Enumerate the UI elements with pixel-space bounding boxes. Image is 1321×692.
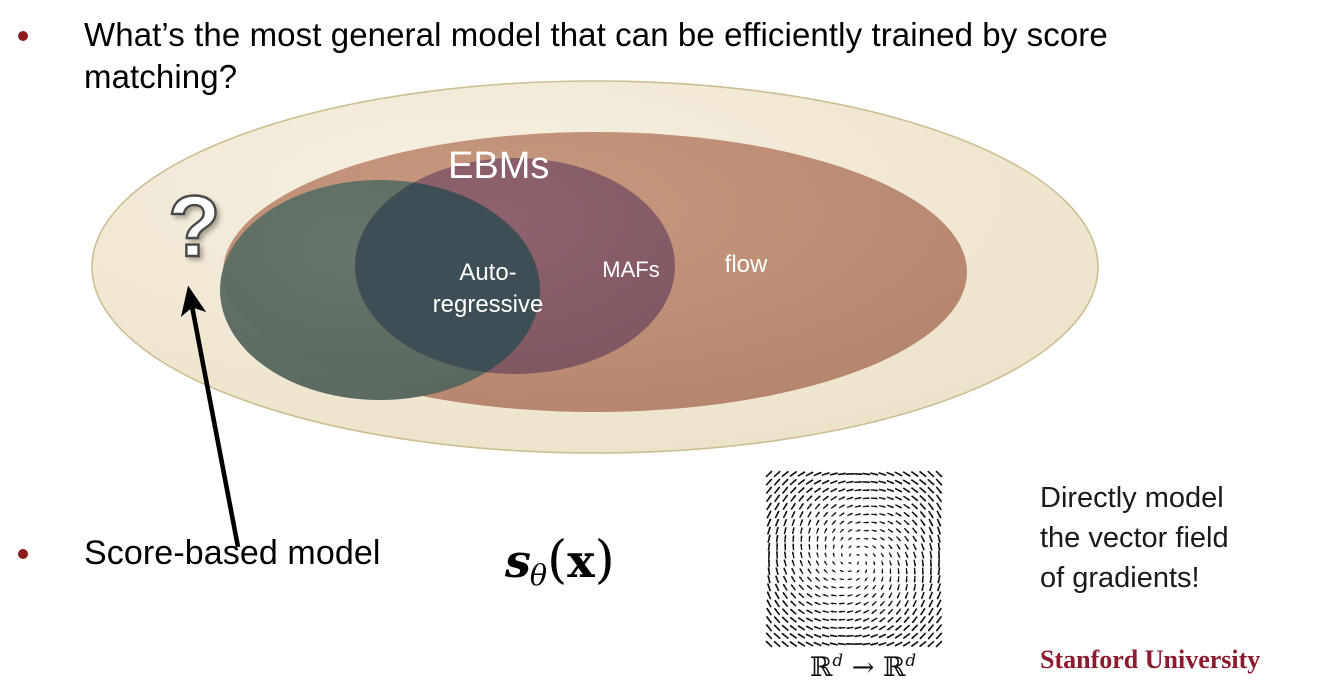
bullet-item-score-based: Score-based model bbox=[18, 532, 538, 576]
vector-field-caption: ℝd → ℝd bbox=[763, 650, 963, 683]
venn-label-ebms: EBMs bbox=[448, 145, 549, 187]
vector-field-plot bbox=[763, 468, 963, 648]
affiliation-label: Stanford University bbox=[1040, 645, 1260, 675]
score-function-formula: sθ(x) bbox=[505, 530, 615, 592]
venn-label-autoregressive-line2: regressive bbox=[433, 291, 544, 318]
bullet-dot-icon bbox=[18, 31, 28, 41]
venn-label-mafs: MAFs bbox=[602, 257, 659, 282]
formula-open-paren: ( bbox=[547, 530, 567, 590]
right-note-line-3: of gradients! bbox=[1040, 558, 1310, 598]
slide-canvas: What’s the most general model that can b… bbox=[0, 0, 1321, 692]
right-annotation-text: Directly model the vector field of gradi… bbox=[1040, 478, 1310, 598]
venn-label-autoregressive-line1: Auto- bbox=[459, 259, 516, 286]
bullet-dot-icon-2 bbox=[18, 549, 28, 559]
question-mark-icon: ? bbox=[160, 180, 230, 290]
formula-symbol-s: s bbox=[505, 534, 531, 588]
caption-codomain: ℝ bbox=[883, 652, 905, 683]
formula-argument-x: x bbox=[567, 534, 594, 588]
caption-arrow-icon: → bbox=[852, 652, 875, 683]
right-note-line-1: Directly model bbox=[1040, 478, 1310, 518]
bullet-score-based-text: Score-based model bbox=[84, 532, 381, 576]
venn-label-flow: flow bbox=[725, 251, 768, 278]
right-note-line-2: the vector field bbox=[1040, 518, 1310, 558]
formula-close-paren: ) bbox=[595, 530, 615, 590]
caption-codomain-exponent: d bbox=[905, 650, 916, 670]
pointer-arrow bbox=[160, 285, 270, 560]
caption-domain: ℝ bbox=[810, 652, 832, 683]
caption-domain-exponent: d bbox=[832, 650, 843, 670]
svg-text:?: ? bbox=[168, 180, 221, 275]
formula-subscript-theta: θ bbox=[530, 559, 547, 592]
